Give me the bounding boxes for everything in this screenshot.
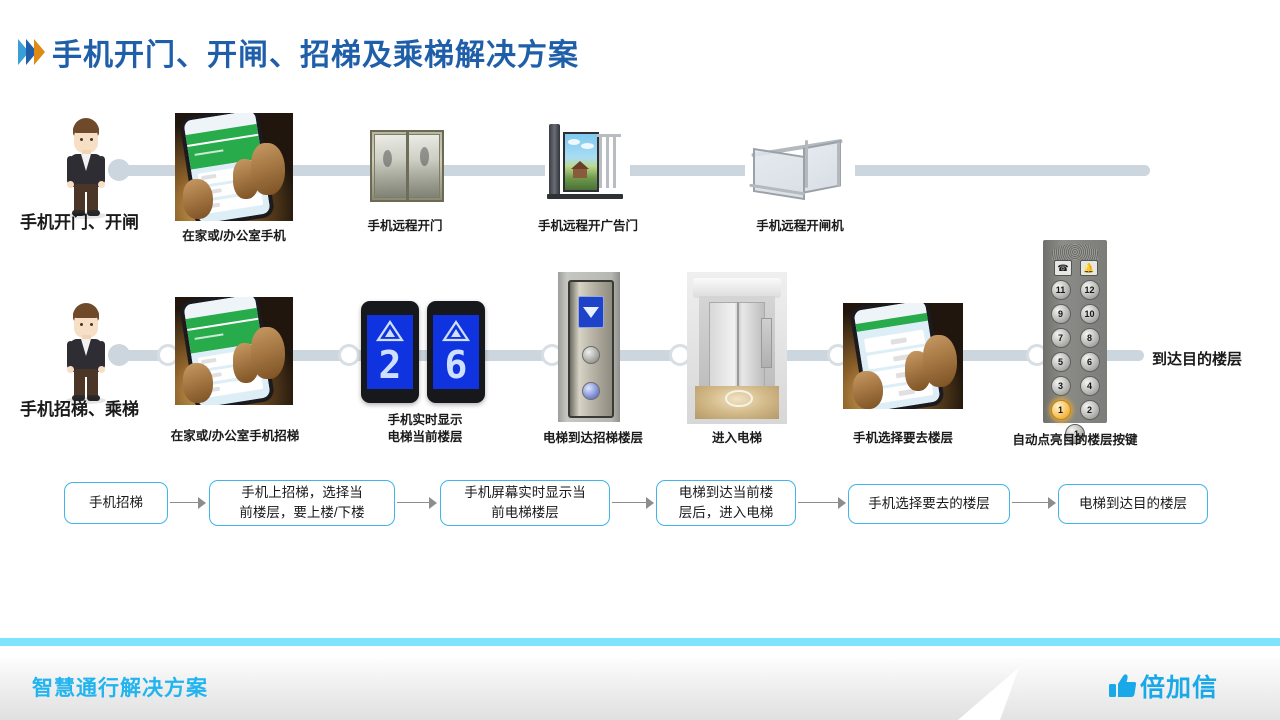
brand-name: 倍加信: [1140, 668, 1218, 704]
speaker-grille-icon: [1052, 244, 1098, 260]
row2-step5-image: [843, 303, 963, 409]
floor-indicator-phone-2: 6: [427, 301, 485, 403]
flow-arrow-1: [170, 497, 206, 509]
row2-step1-caption: 在家或/办公室手机招梯: [165, 428, 305, 445]
page-title: 手机开门、开闸、招梯及乘梯解决方案: [18, 30, 579, 74]
row1-label: 手机开门、开闸: [20, 208, 139, 233]
flow-arrow-3: [612, 497, 654, 509]
flow-step-5[interactable]: 手机选择要去的楼层: [848, 484, 1010, 524]
elevator-floor-button-panel[interactable]: ☎ 🔔 11 12 9 10 7 8 5 6 3 4: [1043, 240, 1107, 423]
row2-node-2: [338, 344, 360, 366]
chevron-triple-icon: [18, 39, 42, 65]
brand-logo: 倍加信: [1109, 668, 1218, 704]
row2-step3-image: [558, 272, 620, 422]
floor-indicator-phone-1: 2: [361, 301, 419, 403]
floor-button-2[interactable]: 2: [1080, 400, 1100, 420]
slide-canvas: 手机开门、开闸、招梯及乘梯解决方案 手机开门、开闸: [0, 0, 1280, 720]
row2-timeline-end-stub: [1108, 350, 1144, 361]
page-title-text: 手机开门、开闸、招梯及乘梯解决方案: [52, 30, 579, 74]
row2-step4-caption: 进入电梯: [692, 430, 782, 447]
row2-step1-image: [175, 297, 293, 405]
footer-title: 智慧通行解决方案: [32, 672, 208, 702]
flow-arrow-4: [798, 497, 846, 509]
row2-person-avatar: [62, 303, 110, 401]
floor-button-7[interactable]: 7: [1051, 328, 1071, 348]
row1-step2-caption: 手机远程开门: [350, 218, 460, 235]
row1-person-avatar: [62, 118, 110, 216]
row1-step2-image: [370, 130, 444, 202]
row2-timeline-start-dot: [108, 344, 130, 366]
row2-step3-caption: 电梯到达招梯楼层: [528, 430, 658, 447]
floor-button-row: 3 4: [1043, 376, 1107, 396]
flow-step-2[interactable]: 手机上招梯，选择当 前楼层，要上楼/下楼: [209, 480, 395, 526]
floor-button-4[interactable]: 4: [1080, 376, 1100, 396]
flow-step-3[interactable]: 手机屏幕实时显示当 前电梯楼层: [440, 480, 610, 526]
row1-step4-image: [745, 130, 855, 200]
floor-button-6[interactable]: 6: [1080, 352, 1100, 372]
row1-step4-caption: 手机远程开闸机: [740, 218, 860, 235]
floor-button-row: 11 12: [1043, 280, 1107, 300]
floor-button-row: 9 10: [1043, 304, 1107, 324]
flow-arrow-5: [1012, 497, 1056, 509]
bell-icon[interactable]: 🔔: [1080, 260, 1098, 276]
row1-step1-caption: 在家或/办公室手机: [175, 228, 293, 245]
row2-step2-caption: 手机实时显示 电梯当前楼层: [355, 412, 495, 446]
floor-button-11[interactable]: 11: [1051, 280, 1071, 300]
flow-step-1[interactable]: 手机招梯: [64, 482, 168, 524]
floor-button-10[interactable]: 10: [1080, 304, 1100, 324]
floor-button-8[interactable]: 8: [1080, 328, 1100, 348]
row2-step6-caption: 自动点亮目的楼层按键: [1000, 432, 1150, 449]
floor-button-row: 5 6: [1043, 352, 1107, 372]
row1-step3-caption: 手机远程开广告门: [524, 218, 652, 235]
row1-timeline-start-dot: [108, 159, 130, 181]
row1-step1-image: [175, 113, 293, 221]
row1-step3-image: [545, 122, 630, 200]
floor-button-1-lit[interactable]: 1: [1051, 400, 1071, 420]
row2-end-label: 到达目的楼层: [1152, 348, 1242, 369]
footer-accent-bar: [0, 638, 1280, 646]
phone-icon[interactable]: ☎: [1054, 260, 1072, 276]
flow-step-4[interactable]: 电梯到达当前楼 层后，进入电梯: [656, 480, 796, 526]
floor-button-3[interactable]: 3: [1051, 376, 1071, 396]
floor-button-row: 1 2: [1043, 400, 1107, 420]
triangle-mountain-icon: [375, 320, 405, 342]
thumbs-up-icon: [1109, 673, 1137, 699]
row2-step5-caption: 手机选择要去楼层: [838, 430, 968, 447]
row2-step4-image: [687, 272, 787, 424]
floor-button-9[interactable]: 9: [1051, 304, 1071, 324]
triangle-mountain-icon-2: [441, 320, 471, 342]
flow-arrow-2: [397, 497, 437, 509]
floor-button-5[interactable]: 5: [1051, 352, 1071, 372]
row2-label: 手机招梯、乘梯: [20, 395, 139, 420]
chevron-right-icon-3: [34, 39, 45, 65]
floor-indicator-phone-1-number: 2: [379, 346, 402, 384]
floor-button-12[interactable]: 12: [1080, 280, 1100, 300]
floor-button-row: 7 8: [1043, 328, 1107, 348]
flow-step-6[interactable]: 电梯到达目的楼层: [1058, 484, 1208, 524]
floor-indicator-phone-2-number: 6: [445, 346, 468, 384]
